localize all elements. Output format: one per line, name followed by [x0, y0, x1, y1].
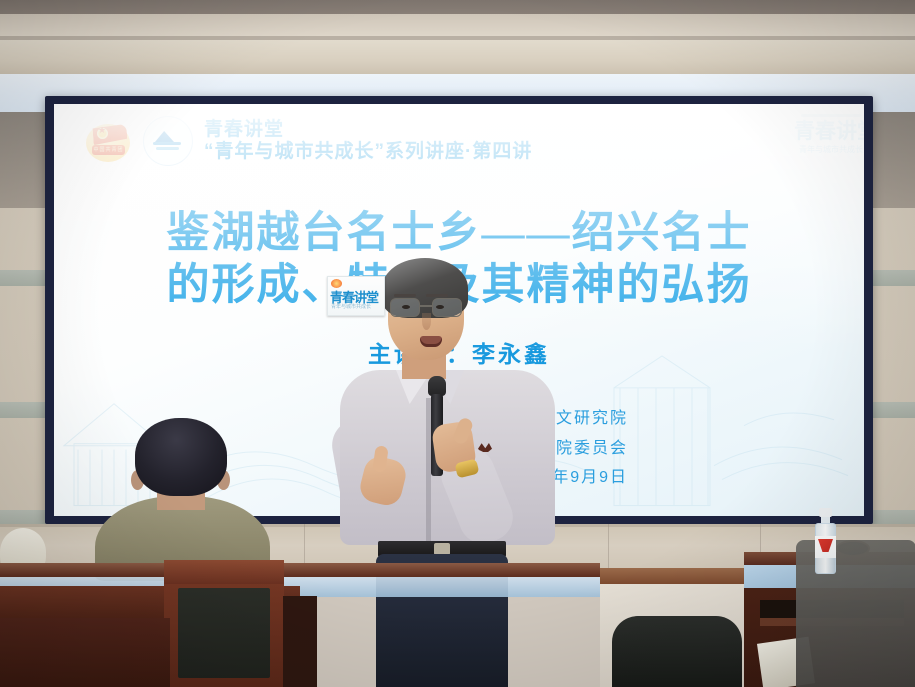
- speaker-mouth: [420, 336, 442, 347]
- lecture-hall-photo: 青春讲堂 青年与城市共成长 中国共青团 青春讲堂 “青年与城市共成长”系列讲座·…: [0, 0, 915, 687]
- ceiling-lower-slab: [0, 14, 915, 36]
- speaker: 青春讲堂 青年与城市共成长: [330, 258, 570, 687]
- slide-header: 中国共青团 青春讲堂 “青年与城市共成长”系列讲座·第四讲: [84, 116, 532, 166]
- microphone-flag-subtitle: 青年与城市共成长: [331, 303, 371, 310]
- communist-youth-league-emblem-icon: 中国共青团: [84, 118, 132, 164]
- conference-chair-front: [164, 560, 284, 687]
- conference-chair-left: [0, 618, 170, 687]
- wall-right: [870, 112, 915, 582]
- league-ribbon-text: 中国共青团: [92, 145, 125, 155]
- slide-corner-watermark-title: 青春讲堂: [794, 120, 864, 144]
- slide-header-line2: “青年与城市共成长”系列讲座·第四讲: [204, 141, 532, 163]
- slide-corner-watermark-sub: 青年与城市共成长: [794, 144, 864, 155]
- water-bottle-label: [815, 536, 836, 558]
- institution-circular-logo-icon: [143, 116, 193, 166]
- desk-center-surface: [300, 563, 600, 577]
- slide-title-line1: 鉴湖越台名士乡——绍兴名士: [54, 208, 864, 260]
- microphone-head: [428, 376, 446, 396]
- slide-corner-watermark: 青春讲堂 青年与城市共成长: [794, 112, 864, 182]
- conference-chair-side: [283, 596, 317, 687]
- audience-member-head: [135, 418, 227, 496]
- wall-left: [0, 112, 48, 582]
- water-bottle: [814, 508, 837, 574]
- ceiling-soffit: [0, 40, 915, 74]
- desk-center-glass-top: [300, 577, 600, 597]
- wall-wood-trim: [600, 568, 745, 584]
- slide-header-line1: 青春讲堂: [204, 119, 532, 141]
- water-bottle-cap: [819, 508, 832, 517]
- ceiling-upper-slab: [0, 0, 915, 14]
- audience-member: [95, 418, 270, 578]
- microphone-flag-badge: 青春讲堂 青年与城市共成长: [327, 276, 385, 316]
- conference-chair-right: [612, 616, 742, 687]
